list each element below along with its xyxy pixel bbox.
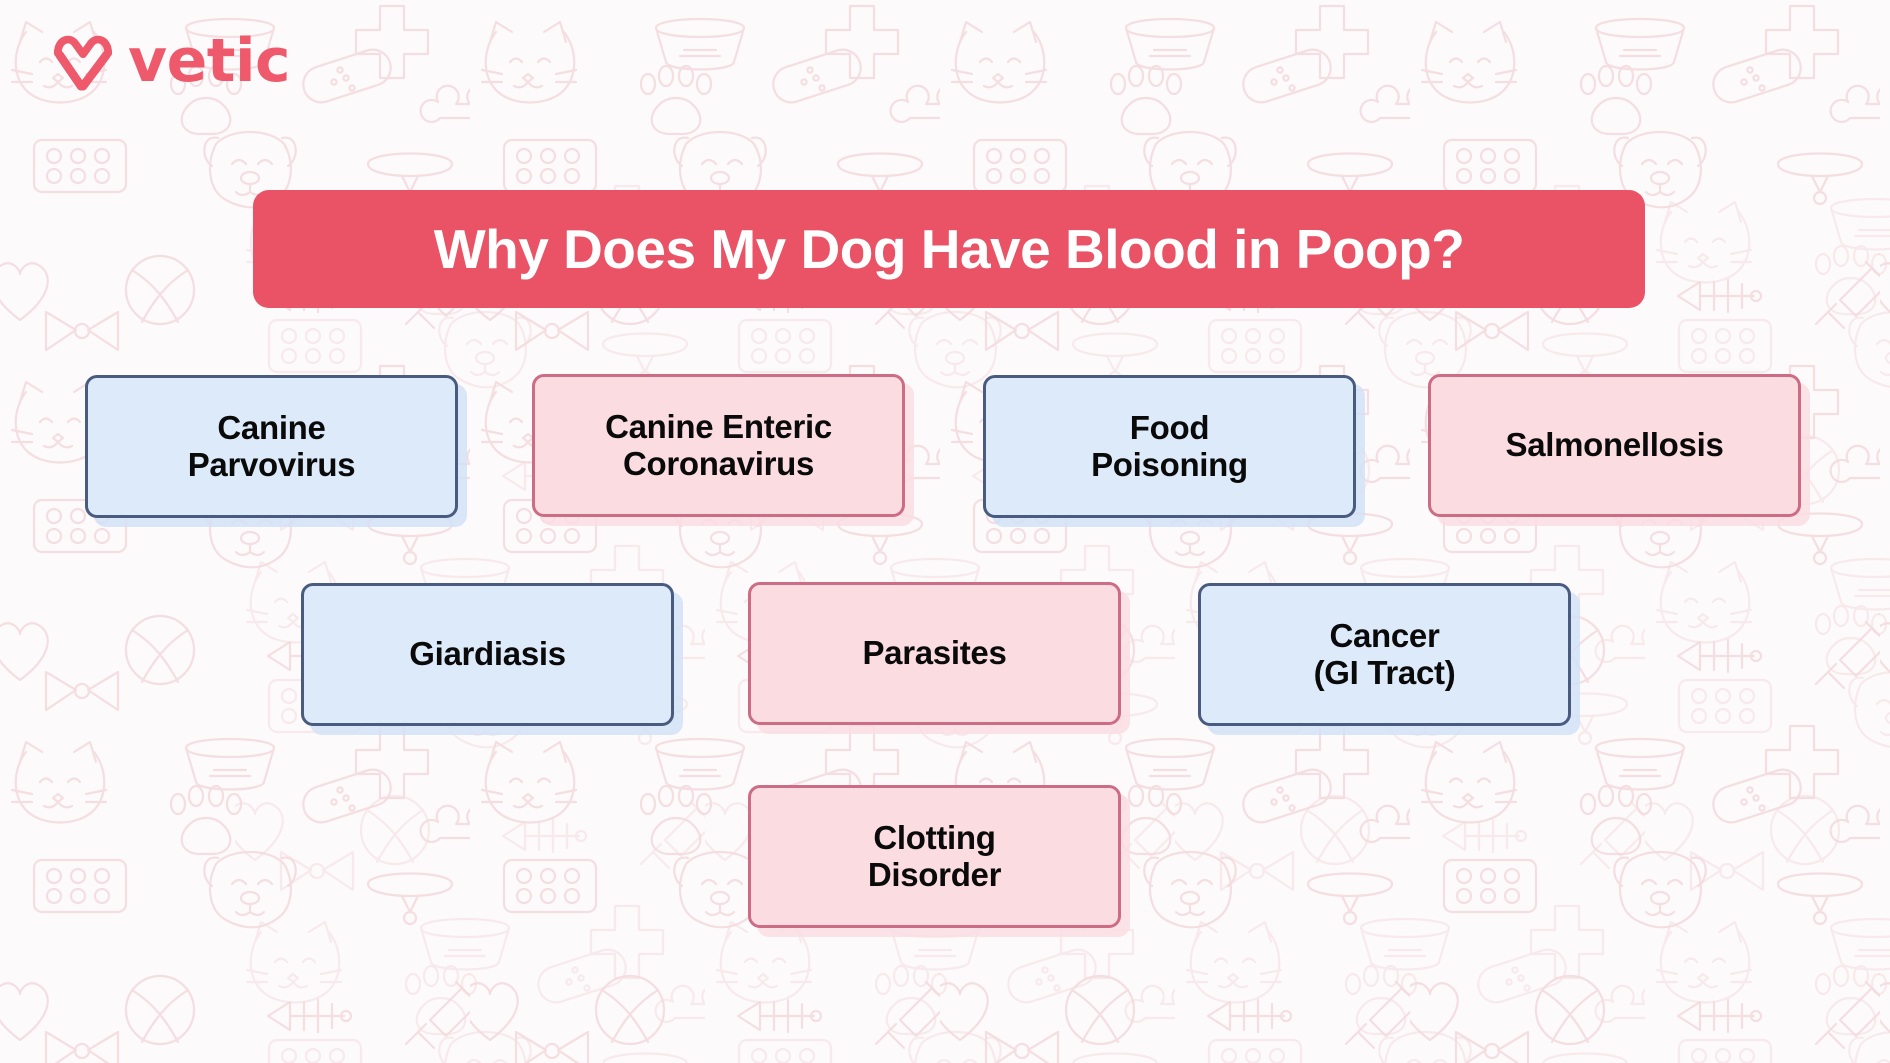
brand-name: vetic	[128, 31, 290, 91]
cause-box-label: Food Poisoning	[1091, 410, 1248, 484]
cause-box-label: Giardiasis	[409, 636, 566, 673]
cause-box-label: Canine Parvovirus	[188, 410, 356, 484]
infographic-canvas: vetic Why Does My Dog Have Blood in Poop…	[0, 0, 1890, 1063]
cause-box[interactable]: Salmonellosis	[1428, 374, 1801, 517]
cause-box[interactable]: Food Poisoning	[983, 375, 1356, 518]
cause-box[interactable]: Parasites	[748, 582, 1121, 725]
cause-box-label: Salmonellosis	[1505, 427, 1723, 464]
cause-box[interactable]: Clotting Disorder	[748, 785, 1121, 928]
brand-logo[interactable]: vetic	[52, 30, 290, 92]
cause-box[interactable]: Canine Enteric Coronavirus	[532, 374, 905, 517]
heart-v-logo-icon	[52, 30, 114, 92]
cause-box[interactable]: Cancer (GI Tract)	[1198, 583, 1571, 726]
cause-box[interactable]: Canine Parvovirus	[85, 375, 458, 518]
title-banner: Why Does My Dog Have Blood in Poop?	[253, 190, 1645, 308]
cause-box-label: Clotting Disorder	[868, 820, 1001, 894]
cause-box-label: Canine Enteric Coronavirus	[605, 409, 832, 483]
cause-box[interactable]: Giardiasis	[301, 583, 674, 726]
page-title: Why Does My Dog Have Blood in Poop?	[434, 222, 1465, 277]
cause-box-label: Cancer (GI Tract)	[1314, 618, 1456, 692]
cause-box-label: Parasites	[862, 635, 1006, 672]
